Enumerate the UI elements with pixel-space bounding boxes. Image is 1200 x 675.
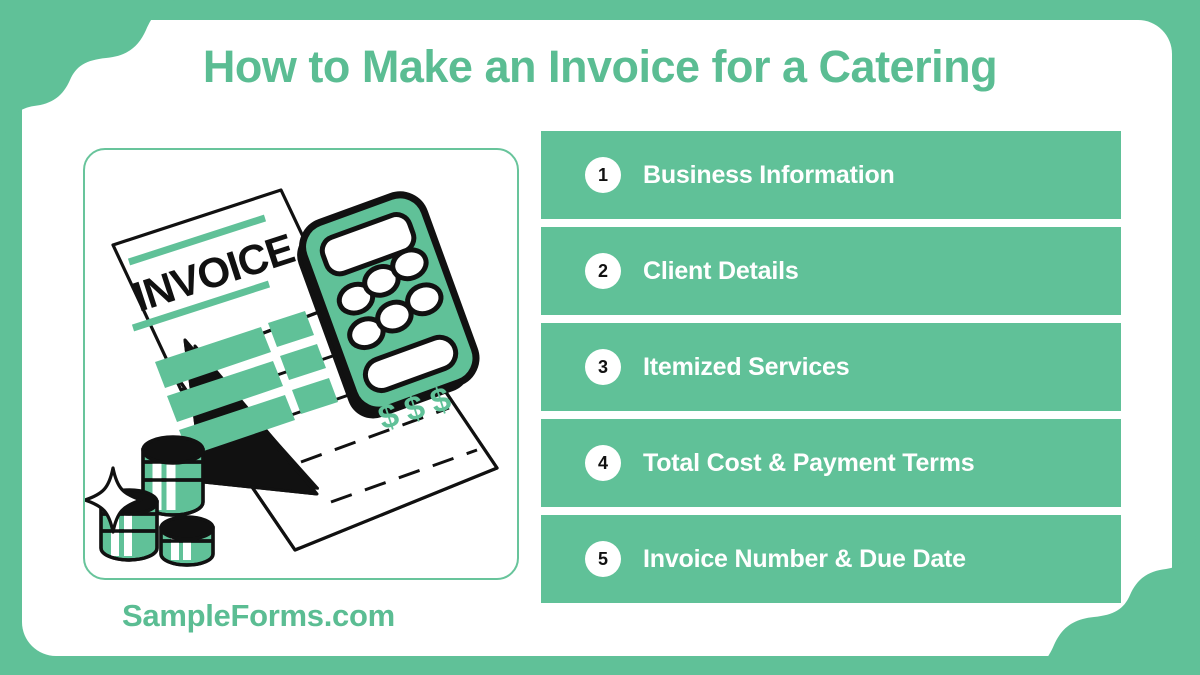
- step-row-5[interactable]: 5 Invoice Number & Due Date: [541, 515, 1121, 603]
- step-number-badge-5: 5: [585, 541, 621, 577]
- step-row-1[interactable]: 1 Business Information: [541, 131, 1121, 219]
- step-label-2: Client Details: [643, 257, 799, 286]
- illustration-card: INVOICE: [83, 148, 519, 580]
- invoice-calculator-coins-illustration: INVOICE: [85, 150, 517, 578]
- step-row-4[interactable]: 4 Total Cost & Payment Terms: [541, 419, 1121, 507]
- step-label-5: Invoice Number & Due Date: [643, 545, 966, 574]
- page-title: How to Make an Invoice for a Catering: [60, 42, 1140, 92]
- footer-brand-wordmark: SampleForms.com: [122, 598, 395, 634]
- step-label-4: Total Cost & Payment Terms: [643, 449, 974, 478]
- step-row-2[interactable]: 2 Client Details: [541, 227, 1121, 315]
- step-number-badge-1: 1: [585, 157, 621, 193]
- step-number-badge-4: 4: [585, 445, 621, 481]
- steps-list: 1 Business Information 2 Client Details …: [541, 131, 1121, 603]
- step-number-badge-3: 3: [585, 349, 621, 385]
- step-row-3[interactable]: 3 Itemized Services: [541, 323, 1121, 411]
- step-label-3: Itemized Services: [643, 353, 849, 382]
- step-label-1: Business Information: [643, 161, 895, 190]
- step-number-badge-2: 2: [585, 253, 621, 289]
- infographic-canvas: How to Make an Invoice for a Catering: [0, 0, 1200, 675]
